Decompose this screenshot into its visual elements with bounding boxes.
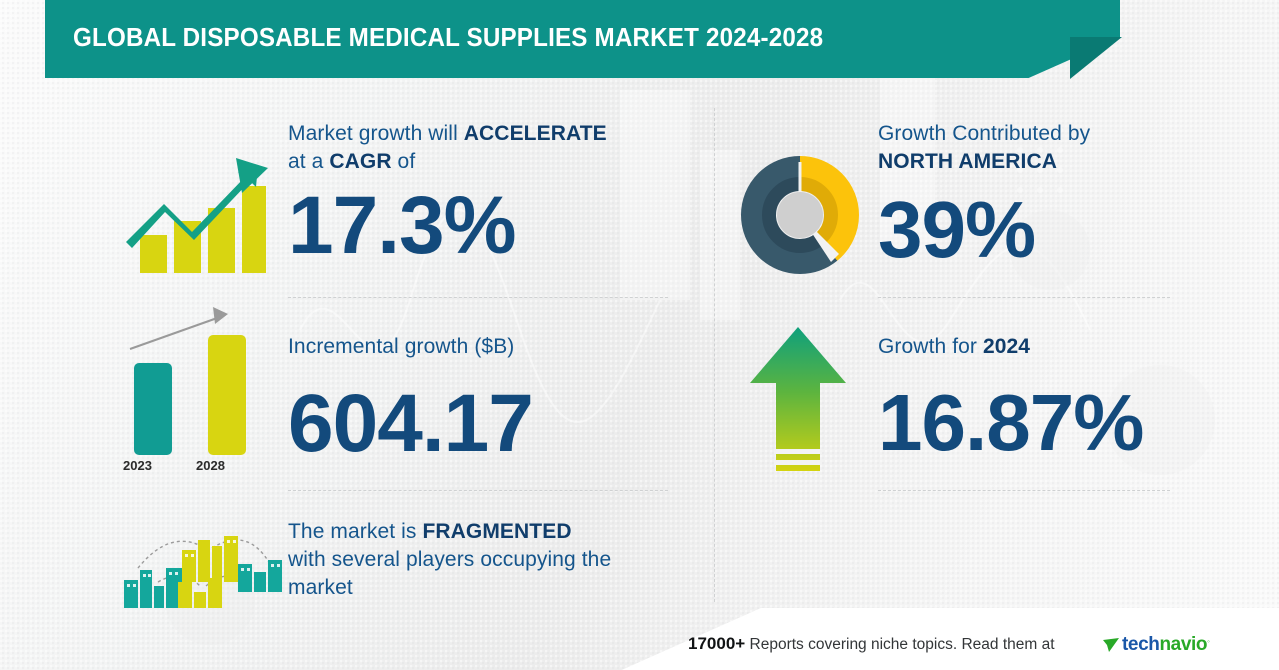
cagr-line1-bold: ACCELERATE bbox=[464, 122, 607, 145]
reports-count: 17000+ bbox=[688, 634, 745, 653]
bar-label-2028: 2028 bbox=[196, 458, 225, 473]
header-fold-corner bbox=[1070, 37, 1122, 79]
cagr-line1-prefix: Market growth will bbox=[288, 122, 464, 145]
incremental-growth-label: Incremental growth ($B) bbox=[288, 333, 514, 361]
bar-label-2023: 2023 bbox=[123, 458, 152, 473]
divider-left-2 bbox=[288, 490, 668, 491]
yearly-growth-value: 16.87% bbox=[878, 383, 1143, 463]
yearly-growth-prefix: Growth for bbox=[878, 335, 983, 358]
divider-left-1 bbox=[288, 297, 668, 298]
cagr-line2-bold: CAGR bbox=[329, 150, 391, 173]
donut-chart-icon bbox=[735, 150, 865, 280]
yearly-growth-description: Growth for 2024 bbox=[878, 333, 1030, 361]
cagr-line2-prefix: at a bbox=[288, 150, 329, 173]
incremental-growth-value: 604.17 bbox=[288, 383, 533, 465]
region-description: Growth Contributed by NORTH AMERICA bbox=[878, 120, 1178, 176]
footer-caption: Reports covering niche topics. Read them… bbox=[750, 636, 1055, 653]
region-line2-bold: NORTH AMERICA bbox=[878, 150, 1057, 173]
up-arrow-icon bbox=[746, 325, 851, 475]
cagr-value: 17.3% bbox=[288, 185, 516, 267]
region-line1: Growth Contributed by bbox=[878, 120, 1178, 148]
growth-bar-chart-arrow-icon bbox=[118, 138, 268, 273]
page-title: GLOBAL DISPOSABLE MEDICAL SUPPLIES MARKE… bbox=[73, 22, 823, 53]
cagr-line2-suffix: of bbox=[392, 150, 416, 173]
logo-trademark: ◦ bbox=[1207, 639, 1209, 646]
city-buildings-network-icon bbox=[120, 520, 285, 610]
header: GLOBAL DISPOSABLE MEDICAL SUPPLIES MARKE… bbox=[0, 0, 1279, 86]
logo-text-navio: navio bbox=[1159, 634, 1207, 655]
divider-right-2 bbox=[878, 490, 1170, 491]
two-bars-growth-icon bbox=[112, 305, 272, 455]
technavio-arrow-logo-mark bbox=[1102, 636, 1120, 659]
fragmentation-line1-prefix: The market is bbox=[288, 520, 422, 543]
fragmentation-line2: with several players occupying the bbox=[288, 546, 688, 574]
footer-text: 17000+ Reports covering niche topics. Re… bbox=[688, 634, 1055, 654]
region-value: 39% bbox=[878, 190, 1035, 270]
yearly-growth-year: 2024 bbox=[983, 335, 1030, 358]
fragmentation-description: The market is FRAGMENTED with several pl… bbox=[288, 518, 688, 602]
fragmentation-line3: market bbox=[288, 574, 688, 602]
fragmentation-line1-bold: FRAGMENTED bbox=[422, 520, 571, 543]
column-divider bbox=[714, 108, 715, 602]
divider-right-1 bbox=[878, 297, 1170, 298]
technavio-logo[interactable]: technavio◦ bbox=[1122, 634, 1210, 656]
cagr-description: Market growth will ACCELERATE at a CAGR … bbox=[288, 120, 688, 176]
logo-text-tech: tech bbox=[1122, 634, 1159, 655]
